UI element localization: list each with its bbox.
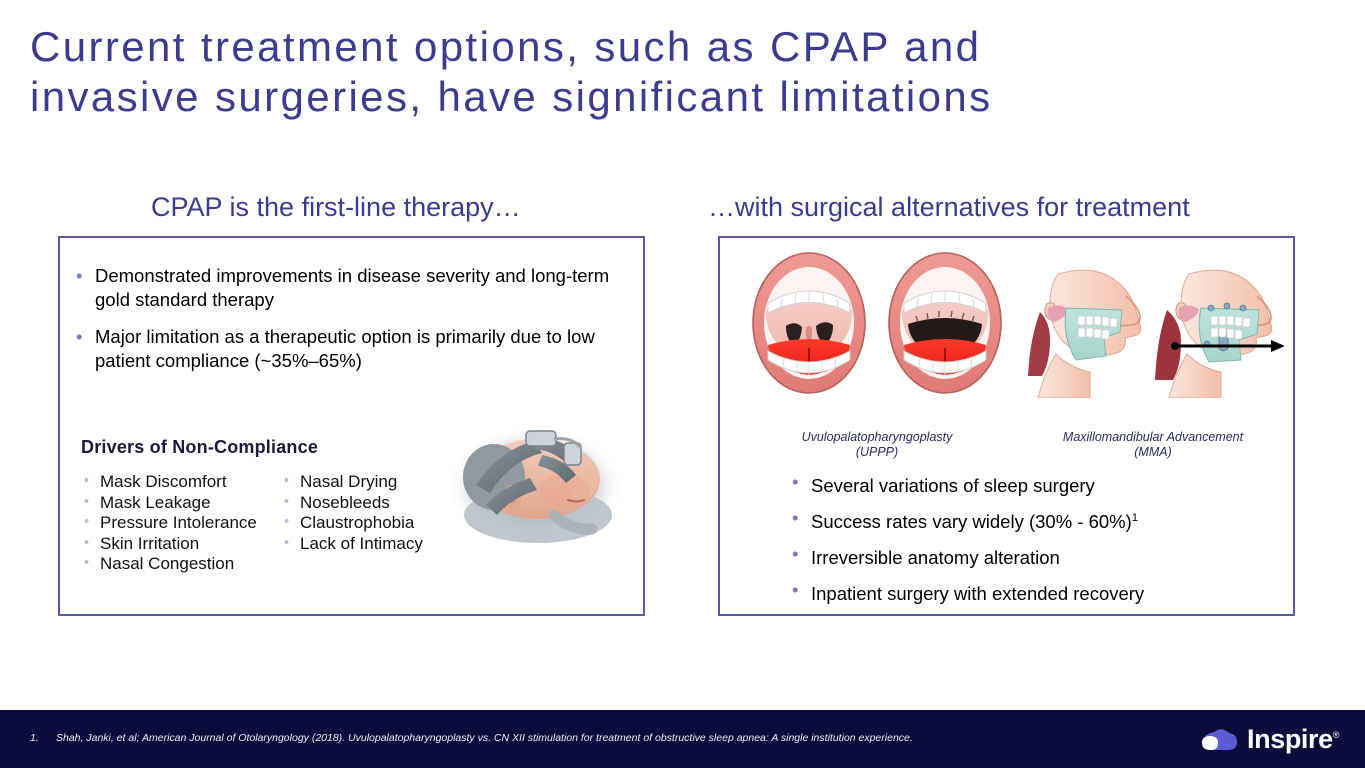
surgery-bullet-list: Several variations of sleep surgery Succ…	[788, 470, 1288, 615]
inspire-wordmark: Inspire®	[1247, 726, 1339, 753]
citation: 1.Shah, Janki, et al; American Journal o…	[30, 731, 913, 745]
cpap-panel: Demonstrated improvements in disease sev…	[58, 236, 645, 616]
uppp-illustration	[746, 248, 1008, 398]
list-item: Major limitation as a therapeutic option…	[72, 325, 627, 373]
inspire-cloud-icon	[1200, 726, 1240, 752]
list-item: Nasal Congestion	[82, 554, 262, 575]
uppp-caption-line-1: Uvulopalatopharyngoplasty	[746, 430, 1008, 445]
page-title-line-1: Current treatment options, such as CPAP …	[30, 22, 1320, 72]
list-item: Mask Leakage	[82, 493, 262, 514]
list-item: Inpatient surgery with extended recovery	[788, 578, 1288, 606]
list-item-text: Several variations of sleep surgery	[811, 475, 1095, 496]
right-column-heading: …with surgical alternatives for treatmen…	[708, 191, 1190, 223]
page-title-line-2: invasive surgeries, have significant lim…	[30, 72, 1320, 122]
drivers-column-1: Mask Discomfort Mask Leakage Pressure In…	[82, 472, 262, 575]
drivers-columns: Mask Discomfort Mask Leakage Pressure In…	[82, 472, 462, 575]
inspire-wordmark-text: Inspire	[1247, 724, 1333, 754]
cpap-bullet-list: Demonstrated improvements in disease sev…	[72, 264, 627, 373]
inspire-logo: Inspire®	[1200, 722, 1339, 756]
surgery-figures: Uvulopalatopharyngoplasty (UPPP) Maxillo…	[720, 248, 1293, 400]
citation-number: 1.	[30, 731, 56, 745]
left-column-heading: CPAP is the first-line therapy…	[151, 191, 521, 223]
uppp-caption-line-2: (UPPP)	[746, 445, 1008, 460]
citation-text: Shah, Janki, et al; American Journal of …	[56, 732, 913, 744]
list-item: Lack of Intimacy	[282, 534, 462, 555]
list-item: Mask Discomfort	[82, 472, 262, 493]
mma-illustration	[1022, 250, 1284, 398]
list-item: Pressure Intolerance	[82, 513, 262, 534]
list-item: Skin Irritation	[82, 534, 262, 555]
slide-root: Current treatment options, such as CPAP …	[0, 0, 1365, 768]
list-item-text: Success rates vary widely (30% - 60%)	[811, 511, 1132, 532]
list-item: Nasal Drying	[282, 472, 462, 493]
surgery-panel: Uvulopalatopharyngoplasty (UPPP) Maxillo…	[718, 236, 1295, 616]
mma-caption: Maxillomandibular Advancement (MMA)	[1022, 430, 1284, 460]
list-item-text: Irreversible anatomy alteration	[811, 547, 1060, 568]
cpap-mask-photo	[446, 419, 624, 553]
uppp-caption: Uvulopalatopharyngoplasty (UPPP)	[746, 430, 1008, 460]
footer-bar: 1.Shah, Janki, et al; American Journal o…	[0, 710, 1365, 768]
list-item: Demonstrated improvements in disease sev…	[72, 264, 627, 312]
list-item-text: Inpatient surgery with extended recovery	[811, 584, 1144, 605]
list-item: Irreversible anatomy alteration	[788, 542, 1288, 570]
mma-caption-line-1: Maxillomandibular Advancement	[1022, 430, 1284, 445]
list-item: Nosebleeds	[282, 493, 462, 514]
drivers-heading: Drivers of Non-Compliance	[81, 437, 318, 458]
list-item: Success rates vary widely (30% - 60%)1	[788, 506, 1288, 534]
page-title: Current treatment options, such as CPAP …	[30, 22, 1320, 122]
footnote-ref: 1	[1132, 512, 1138, 524]
list-item: Claustrophobia	[282, 513, 462, 534]
mma-caption-line-2: (MMA)	[1022, 445, 1284, 460]
registered-mark: ®	[1333, 730, 1339, 740]
drivers-column-2: Nasal Drying Nosebleeds Claustrophobia L…	[282, 472, 462, 575]
list-item: Several variations of sleep surgery	[788, 470, 1288, 498]
